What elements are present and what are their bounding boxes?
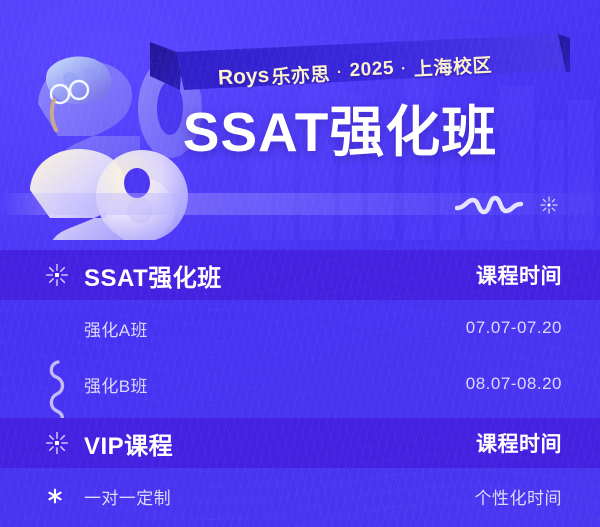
ribbon-separator-1: · bbox=[336, 63, 343, 80]
header-time-cell: 课程时间 bbox=[412, 260, 562, 290]
section-title: SSAT强化班 bbox=[84, 258, 222, 293]
row-label-cell: 强化B班 bbox=[84, 372, 412, 397]
table-header-row-ssat: SSAT强化班 课程时间 bbox=[0, 250, 600, 300]
header-icon-cell bbox=[46, 432, 84, 454]
wave-squiggle-icon bbox=[455, 192, 535, 218]
ribbon-year: 2025 bbox=[349, 58, 395, 82]
column-header-time: 课程时间 bbox=[476, 260, 562, 290]
section-title: VIP课程 bbox=[84, 426, 173, 461]
header-label-cell: VIP课程 bbox=[84, 426, 412, 461]
course-name: 一对一定制 bbox=[84, 484, 171, 509]
poster-root: Roys 乐亦思 · 2025 · 上海校区 SSAT强化班 bbox=[0, 0, 600, 527]
table-top-spacer bbox=[0, 240, 600, 250]
course-time: 个性化时间 bbox=[475, 484, 563, 509]
row-label-cell: 一对一定制 bbox=[84, 484, 412, 509]
asterisk-icon bbox=[46, 487, 64, 505]
ribbon-separator-2: · bbox=[401, 60, 408, 77]
table-row: 强化B班 08.07-08.20 bbox=[0, 356, 600, 412]
brand-name-cn: 乐亦思 bbox=[271, 59, 331, 89]
row-label-cell: 强化A班 bbox=[84, 316, 412, 341]
sparkle-burst-icon bbox=[540, 196, 558, 214]
course-time: 08.07-08.20 bbox=[466, 374, 562, 394]
row-time-cell: 07.07-07.20 bbox=[412, 318, 562, 338]
course-name: 强化A班 bbox=[84, 316, 148, 341]
header-time-cell: 课程时间 bbox=[412, 428, 562, 458]
course-schedule-table: SSAT强化班 课程时间 强化A班 07.07-07.20 bbox=[0, 240, 600, 527]
hero-banner: Roys 乐亦思 · 2025 · 上海校区 SSAT强化班 bbox=[0, 0, 600, 240]
header-icon-cell bbox=[46, 264, 84, 286]
row-icon-cell bbox=[46, 487, 84, 505]
table-row: 强化A班 07.07-07.20 bbox=[0, 300, 600, 356]
course-name: 强化B班 bbox=[84, 372, 148, 397]
page-title: SSAT强化班 bbox=[0, 105, 600, 160]
brand-name: Roys bbox=[217, 64, 270, 91]
sparkle-burst-icon bbox=[46, 264, 68, 286]
table-header-row-vip: VIP课程 课程时间 bbox=[0, 418, 600, 468]
table-row: 一对一定制 个性化时间 bbox=[0, 468, 600, 524]
header-label-cell: SSAT强化班 bbox=[84, 258, 412, 293]
column-header-time: 课程时间 bbox=[476, 428, 562, 458]
course-time: 07.07-07.20 bbox=[466, 318, 562, 338]
sparkle-burst-icon bbox=[46, 432, 68, 454]
ribbon-campus: 上海校区 bbox=[413, 50, 493, 81]
row-time-cell: 个性化时间 bbox=[412, 484, 562, 509]
row-time-cell: 08.07-08.20 bbox=[412, 374, 562, 394]
